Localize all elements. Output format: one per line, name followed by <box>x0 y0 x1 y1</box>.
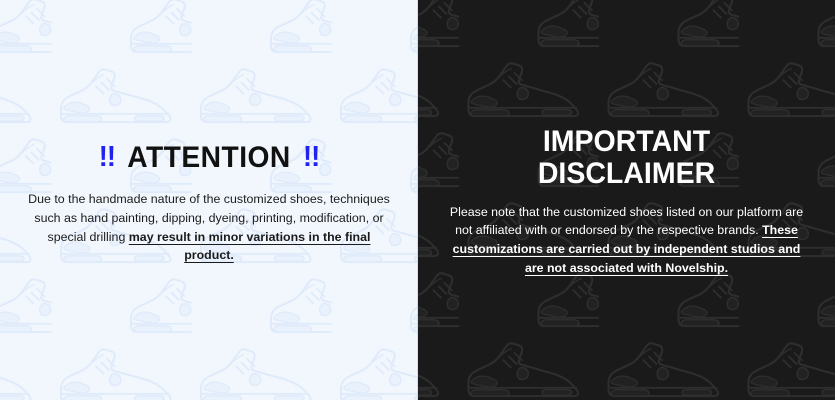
exclamation-left-icon: !! <box>99 143 115 172</box>
disclaimer-content: IMPORTANT DISCLAIMER Please note that th… <box>418 126 835 278</box>
disclaimer-panel: IMPORTANT DISCLAIMER Please note that th… <box>418 0 835 400</box>
panel-divider <box>417 0 418 400</box>
disclaimer-heading: IMPORTANT DISCLAIMER <box>453 126 800 190</box>
attention-body-emphasis: may result in minor variations in the fi… <box>129 230 371 263</box>
disclaimer-body-normal: Please note that the customized shoes li… <box>450 205 803 238</box>
disclaimer-heading-line-1: IMPORTANT <box>453 126 800 158</box>
exclamation-right-icon: !! <box>303 143 319 172</box>
attention-heading-text: ATTENTION <box>127 143 291 173</box>
disclaimer-body: Please note that the customized shoes li… <box>444 203 809 278</box>
attention-body: Due to the handmade nature of the custom… <box>26 190 392 265</box>
customization-notice-banner: !! ATTENTION !! Due to the handmade natu… <box>0 0 835 400</box>
disclaimer-heading-line-2: DISCLAIMER <box>453 158 800 190</box>
attention-panel: !! ATTENTION !! Due to the handmade natu… <box>0 0 418 400</box>
attention-heading: !! ATTENTION !! <box>37 143 381 173</box>
attention-content: !! ATTENTION !! Due to the handmade natu… <box>0 143 418 265</box>
